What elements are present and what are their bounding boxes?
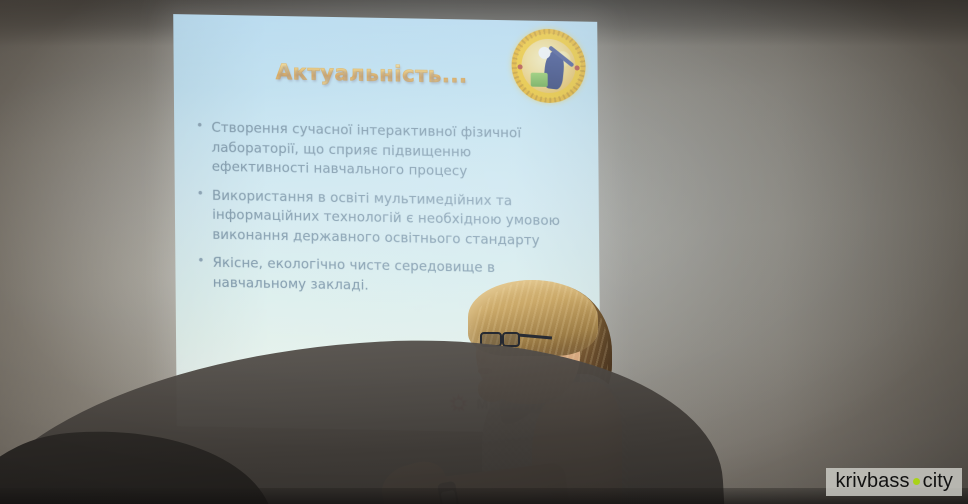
watermark: krivbass city	[826, 468, 962, 496]
bullet-text: Створення сучасної інтерактивної фізично…	[211, 119, 572, 184]
watermark-text-left: krivbass	[835, 471, 909, 492]
list-item: • Використання в освіті мультимедійних т…	[197, 186, 573, 252]
list-item: • Створення сучасної інтерактивної фізич…	[196, 118, 572, 184]
photo-screenshot: Актуальність... • Створення сучасної інт…	[0, 0, 968, 504]
bullet-dot-icon: •	[196, 117, 203, 135]
bullet-text: Використання в освіті мультимедійних та …	[212, 186, 573, 251]
watermark-dot-icon	[913, 478, 920, 485]
school-emblem-icon	[511, 28, 586, 103]
emblem-star-left	[518, 64, 523, 69]
watermark-text-right: city	[923, 471, 953, 492]
emblem-star-right	[575, 65, 580, 70]
floor-shadow-strip	[0, 488, 968, 504]
bullet-dot-icon: •	[197, 253, 204, 271]
bullet-dot-icon: •	[197, 185, 204, 203]
